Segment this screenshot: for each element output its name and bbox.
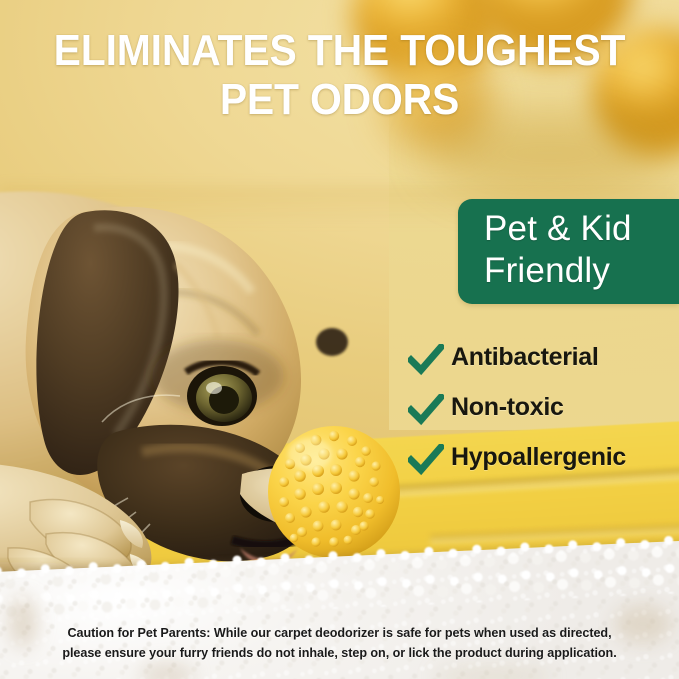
list-item-label: Antibacterial bbox=[451, 340, 599, 374]
page-title: ELIMINATES THE TOUGHEST PET ODORS bbox=[24, 26, 655, 124]
carpet-shadow bbox=[432, 666, 552, 679]
list-item: Hypoallergenic bbox=[404, 438, 679, 484]
check-icon bbox=[408, 444, 444, 476]
list-item: Non-toxic bbox=[404, 388, 679, 434]
list-item: Antibacterial bbox=[404, 338, 679, 384]
list-item-label: Non-toxic bbox=[451, 390, 564, 424]
list-item-label: Hypoallergenic bbox=[451, 440, 626, 474]
caution-caption: Caution for Pet Parents: While our carpe… bbox=[0, 624, 679, 663]
product-infographic: ELIMINATES THE TOUGHEST PET ODORS Pet & … bbox=[0, 0, 679, 679]
check-icon bbox=[408, 394, 444, 426]
status-badge: Pet & Kid Friendly bbox=[458, 199, 679, 304]
spiky-rubber-ball bbox=[256, 414, 412, 564]
feature-list: Antibacterial Non-toxic Hypoallergenic bbox=[404, 338, 679, 488]
status-badge-label: Pet & Kid Friendly bbox=[484, 208, 679, 292]
check-icon bbox=[408, 344, 444, 376]
